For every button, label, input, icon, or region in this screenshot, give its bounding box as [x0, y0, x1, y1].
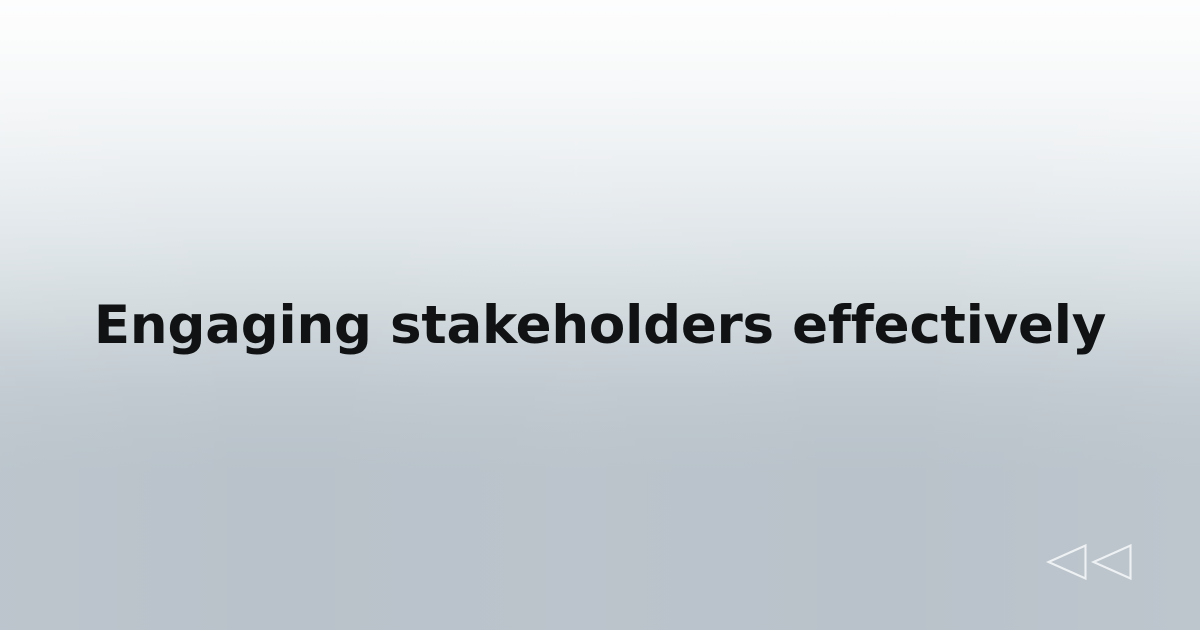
- title-container: Engaging stakeholders effectively: [0, 276, 1200, 376]
- rewind-triangle-right-icon: [1094, 546, 1131, 579]
- rewind-triangle-left-icon: [1049, 546, 1086, 579]
- title-banner: Engaging stakeholders effectively: [0, 0, 1200, 630]
- rewind-button[interactable]: [1044, 541, 1136, 583]
- page-title: Engaging stakeholders effectively: [94, 296, 1106, 355]
- rewind-double-left-triangle-icon: [1044, 541, 1136, 583]
